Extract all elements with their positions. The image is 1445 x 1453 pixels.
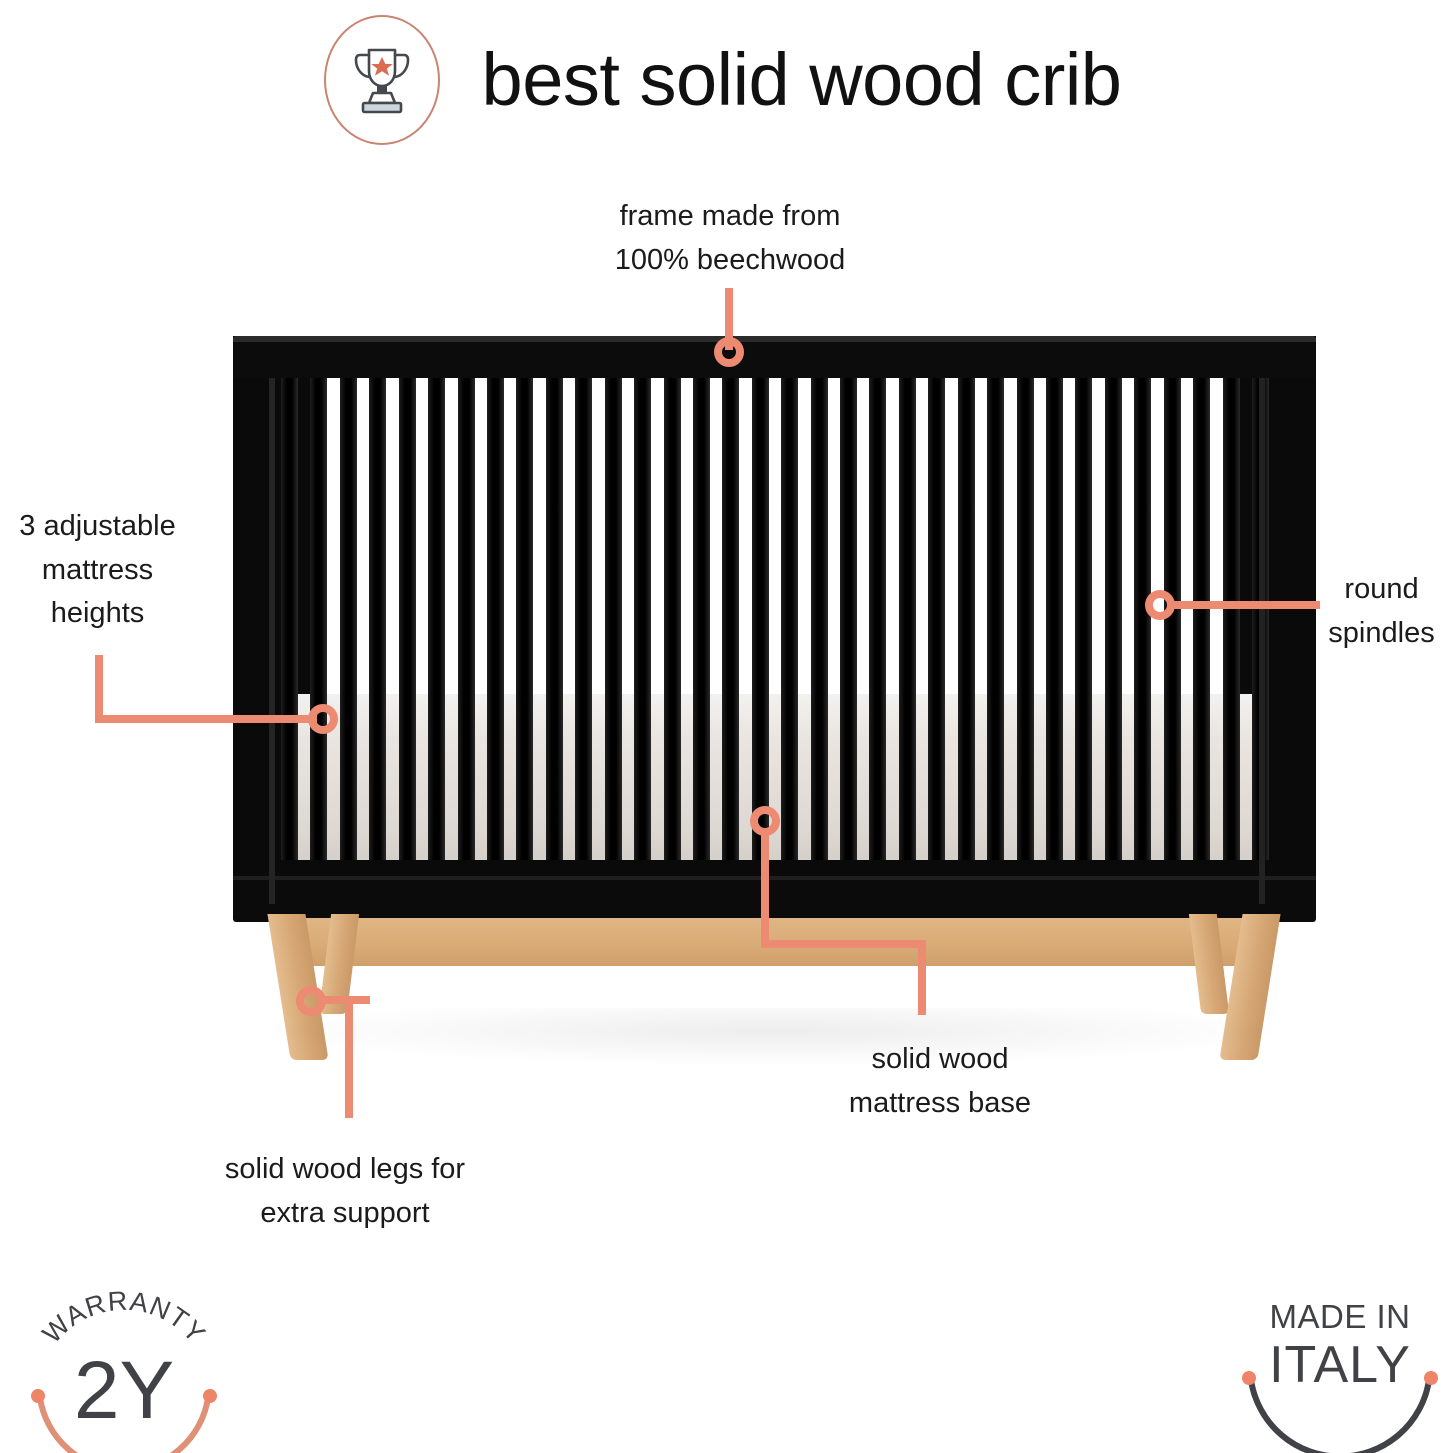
crib-spindles-front	[281, 376, 1269, 876]
crib-spindle	[840, 376, 857, 876]
crib-right-post	[1264, 336, 1316, 908]
origin-line-1: MADE IN	[1269, 1298, 1410, 1335]
crib-spindle	[487, 376, 504, 876]
crib-right-post-edge	[1259, 344, 1265, 904]
warranty-value: 2Y	[74, 1345, 174, 1436]
floor-shadow	[255, 1008, 1295, 1066]
warranty-dot-left	[31, 1389, 45, 1403]
crib-spindle	[664, 376, 681, 876]
crib-base-rail	[233, 874, 1316, 922]
callout-leader-mattress-base-v2	[918, 940, 926, 1015]
page-title: best solid wood crib	[482, 43, 1122, 117]
crib-spindle	[634, 376, 651, 876]
crib-spindle	[987, 376, 1004, 876]
warranty-badge: WARRANTY 2Y	[10, 1288, 240, 1453]
crib-spindle	[1223, 376, 1240, 876]
trophy-icon	[349, 42, 415, 118]
crib-product-photo	[225, 320, 1325, 1060]
crib-spindle	[1134, 376, 1151, 876]
callout-label-spindles: round spindles	[1318, 568, 1445, 655]
callout-leader-mattress-heights-h	[95, 715, 317, 723]
crib-spindle	[340, 376, 357, 876]
callout-leader-spindles	[1168, 601, 1320, 609]
crib-spindle	[369, 376, 386, 876]
callout-leader-mattress-heights-v	[95, 655, 103, 723]
crib-left-post-edge	[269, 344, 275, 904]
svg-text:WARRANTY: WARRANTY	[37, 1288, 212, 1349]
made-in-italy-badge: MADE IN ITALY	[1225, 1288, 1445, 1453]
crib-spindle	[693, 376, 710, 876]
crib-spindle	[605, 376, 622, 876]
crib-spindle	[458, 376, 475, 876]
infographic-canvas: best solid wood crib frame made from 100…	[0, 0, 1445, 1453]
crib-spindle	[869, 376, 886, 876]
callout-marker-spindles[interactable]	[1145, 590, 1175, 620]
crib-spindle	[575, 376, 592, 876]
crib-spindle	[428, 376, 445, 876]
crib-spindle	[722, 376, 739, 876]
callout-label-legs: solid wood legs for extra support	[155, 1148, 535, 1235]
callout-marker-frame[interactable]	[714, 337, 744, 367]
crib-top-rail	[233, 336, 1316, 378]
certification-badges: WARRANTY 2Y UL GREENGUARD GOLD	[0, 1288, 1445, 1453]
origin-dot-right	[1424, 1371, 1438, 1385]
crib-spindle	[1193, 376, 1210, 876]
crib-spindle	[516, 376, 533, 876]
award-badge-circle	[324, 15, 440, 145]
crib-spindle	[781, 376, 798, 876]
crib-spindle	[958, 376, 975, 876]
crib-top-rail-highlight	[233, 336, 1316, 342]
crib-spindle	[899, 376, 916, 876]
crib-left-post	[233, 336, 285, 908]
callout-marker-legs[interactable]	[296, 986, 326, 1016]
crib-spindle	[1046, 376, 1063, 876]
crib-spindle	[811, 376, 828, 876]
callout-leader-legs-v	[345, 996, 353, 1118]
crib-spindle	[281, 376, 298, 876]
crib-spindle	[1075, 376, 1092, 876]
callout-label-mattress-heights: 3 adjustable mattress heights	[0, 505, 195, 636]
crib-spindle	[1105, 376, 1122, 876]
callout-leader-mattress-base-h	[761, 940, 926, 948]
origin-line-2: ITALY	[1269, 1336, 1411, 1394]
callout-marker-mattress-base[interactable]	[750, 806, 780, 836]
crib-spindle	[546, 376, 563, 876]
origin-dot-left	[1242, 1371, 1256, 1385]
crib-spindle	[928, 376, 945, 876]
callout-leader-mattress-base-v1	[761, 830, 769, 948]
header: best solid wood crib	[0, 0, 1445, 160]
callout-label-mattress-base: solid wood mattress base	[795, 1038, 1085, 1125]
warranty-dot-right	[203, 1389, 217, 1403]
crib-spindle	[399, 376, 416, 876]
crib-spindle	[1164, 376, 1181, 876]
crib-spindle	[1017, 376, 1034, 876]
warranty-arc-label: WARRANTY	[37, 1288, 212, 1349]
callout-label-frame: frame made from 100% beechwood	[585, 195, 875, 282]
crib-spindle	[310, 376, 327, 876]
crib-base-rail-highlight	[233, 876, 1316, 880]
callout-marker-mattress-heights[interactable]	[308, 704, 338, 734]
crib-spindle	[752, 376, 769, 876]
